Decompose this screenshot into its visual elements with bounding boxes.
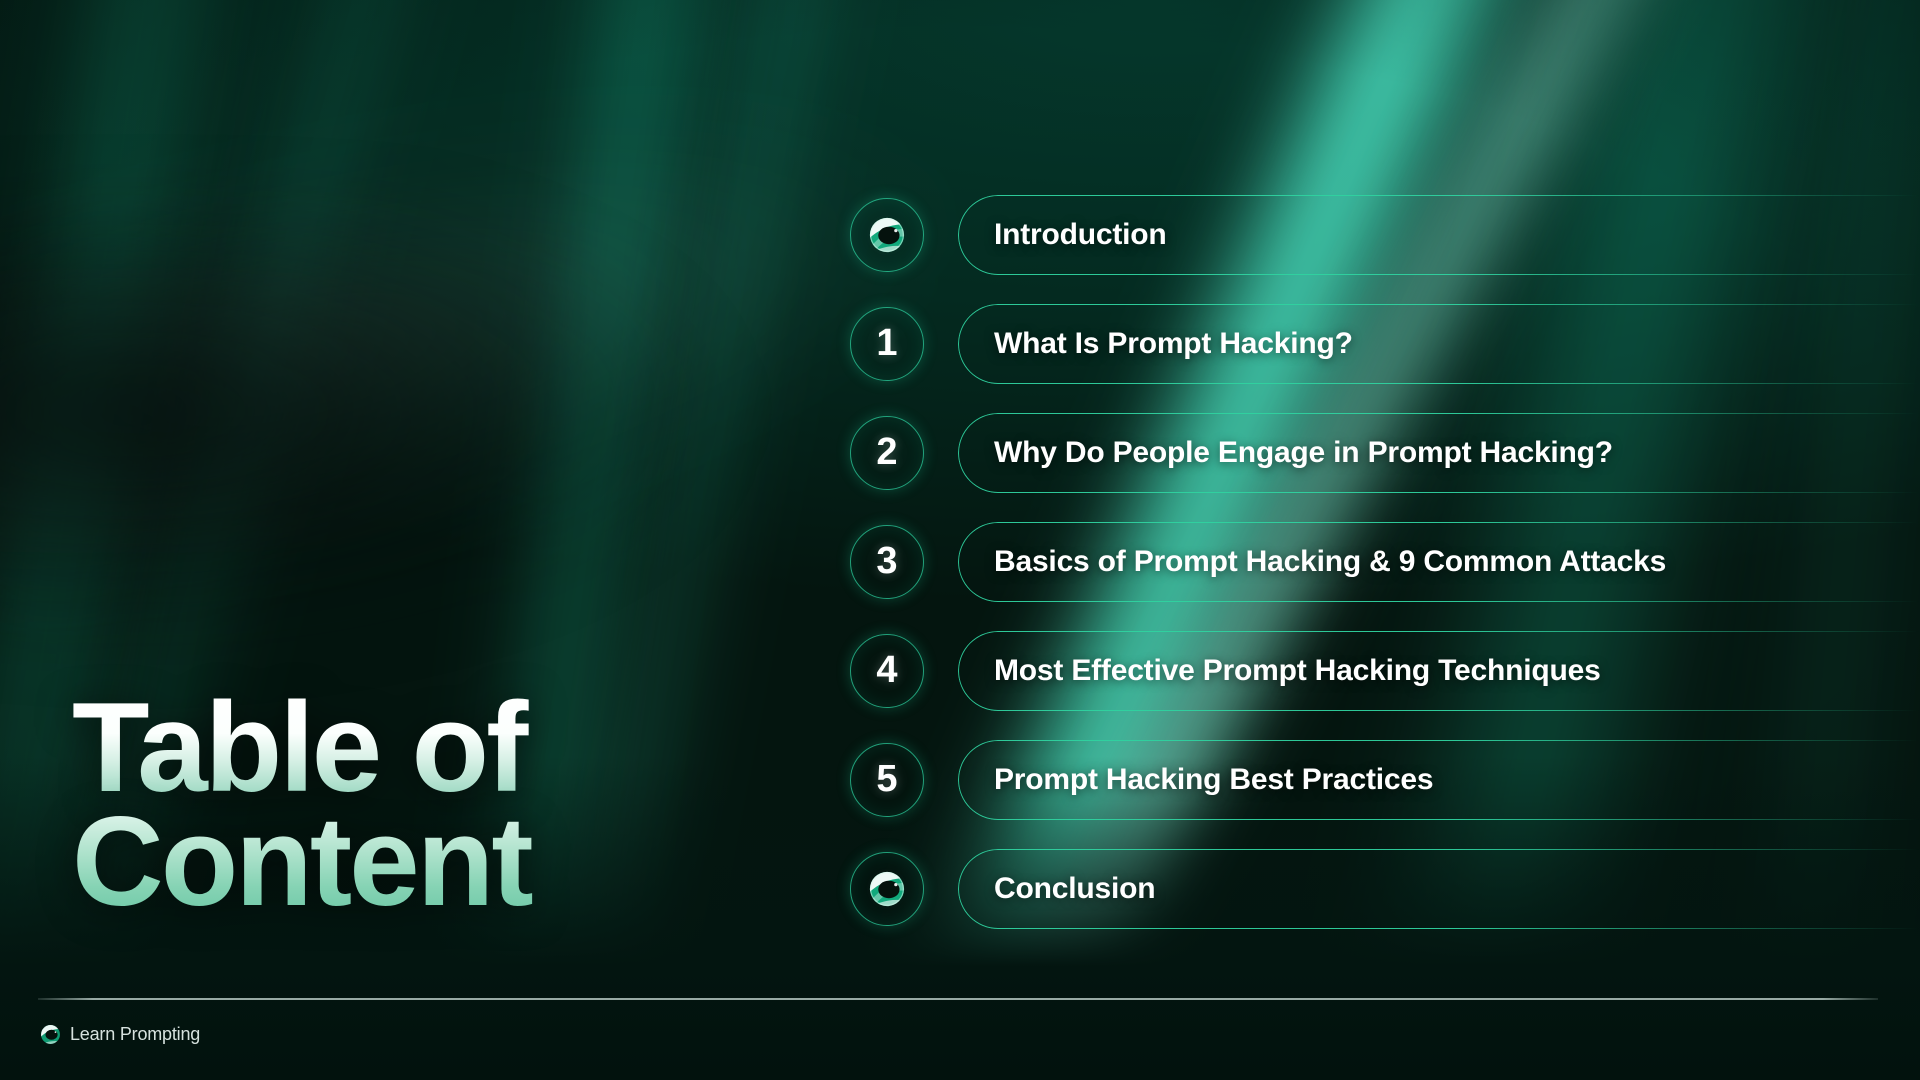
toc-item-number-badge: 2 [850, 416, 924, 490]
toc-item[interactable]: 1What Is Prompt Hacking? [850, 289, 1920, 398]
toc-item[interactable]: 2Why Do People Engage in Prompt Hacking? [850, 398, 1920, 507]
toc-item-number-badge: 1 [850, 307, 924, 381]
toc-item-logo-badge [850, 852, 924, 926]
toc-item[interactable]: Introduction [850, 180, 1920, 289]
title-line-1: Table of [72, 690, 712, 804]
toc-item-label: Most Effective Prompt Hacking Techniques [994, 654, 1601, 688]
toc-item-pill[interactable]: Most Effective Prompt Hacking Techniques [958, 631, 1920, 711]
page-title: Table of Content [72, 690, 712, 919]
helmet-icon [40, 1024, 61, 1045]
toc-item-number: 4 [876, 649, 897, 692]
toc-item[interactable]: 5Prompt Hacking Best Practices [850, 725, 1920, 834]
toc-item[interactable]: 3Basics of Prompt Hacking & 9 Common Att… [850, 507, 1920, 616]
title-line-2: Content [72, 804, 712, 918]
helmet-icon [868, 870, 906, 908]
toc-item-pill[interactable]: Why Do People Engage in Prompt Hacking? [958, 413, 1920, 493]
brand-name: Learn Prompting [70, 1024, 200, 1045]
toc-item-pill[interactable]: Conclusion [958, 849, 1920, 929]
toc-item[interactable]: Conclusion [850, 834, 1920, 943]
toc-item-pill[interactable]: What Is Prompt Hacking? [958, 304, 1920, 384]
footer-divider [38, 998, 1878, 1000]
helmet-icon [868, 216, 906, 254]
toc-item-pill[interactable]: Introduction [958, 195, 1920, 275]
toc-item-logo-badge [850, 198, 924, 272]
toc-item-number: 1 [876, 322, 897, 365]
brand-logo: Learn Prompting [40, 1024, 200, 1045]
slide-footer: Learn Prompting [0, 984, 1920, 1080]
toc-item-label: Why Do People Engage in Prompt Hacking? [994, 436, 1613, 470]
toc-item-pill[interactable]: Basics of Prompt Hacking & 9 Common Atta… [958, 522, 1920, 602]
table-of-contents-list: Introduction1What Is Prompt Hacking?2Why… [850, 180, 1920, 943]
toc-item-number: 5 [876, 758, 897, 801]
toc-item-pill[interactable]: Prompt Hacking Best Practices [958, 740, 1920, 820]
toc-item-number: 3 [876, 540, 897, 583]
toc-item-number: 2 [876, 431, 897, 474]
toc-item-label: Introduction [994, 218, 1167, 252]
toc-item-number-badge: 3 [850, 525, 924, 599]
toc-item-number-badge: 4 [850, 634, 924, 708]
toc-item-label: Basics of Prompt Hacking & 9 Common Atta… [994, 545, 1666, 579]
toc-item-number-badge: 5 [850, 743, 924, 817]
toc-item-label: Conclusion [994, 872, 1155, 906]
toc-item-label: Prompt Hacking Best Practices [994, 763, 1433, 797]
toc-item[interactable]: 4Most Effective Prompt Hacking Technique… [850, 616, 1920, 725]
toc-item-label: What Is Prompt Hacking? [994, 327, 1353, 361]
